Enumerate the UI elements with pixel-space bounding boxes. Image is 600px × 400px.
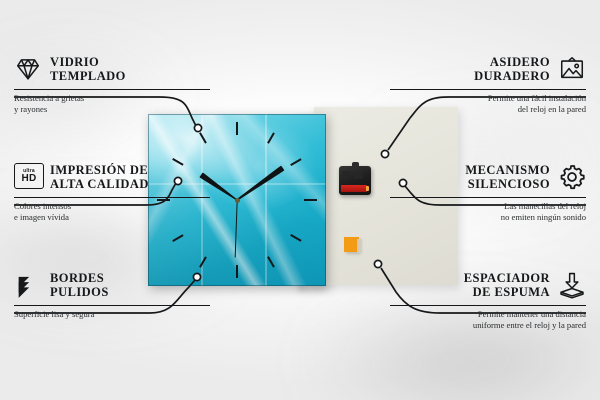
feature-mecanismo-silencioso: MECANISMO SILENCIOSO Las manecillas del … [390, 160, 586, 223]
feature-rule [390, 89, 586, 90]
feature-asidero-duradero: ASIDERO DURADERO Permite una fácil insta… [390, 52, 586, 115]
foam-spacer [344, 237, 359, 252]
feature-description: Permite una fácil instalación del reloj … [390, 93, 586, 115]
feature-rule [14, 197, 210, 198]
feature-description: Resistencia a grietas y rayones [14, 93, 210, 115]
movement-slot-right [354, 171, 363, 179]
feature-header: ESPACIADOR DE ESPUMA [390, 268, 586, 302]
feature-description: Superficie lisa y segura [14, 309, 210, 320]
hd-main-label: HD [21, 174, 36, 184]
feature-title: ESPACIADOR DE ESPUMA [464, 271, 550, 299]
foam-spacer-arrow-icon [558, 271, 586, 299]
movement-slot-left [342, 171, 351, 179]
feature-title: IMPRESIÓN DE ALTA CALIDAD [50, 163, 149, 191]
gear-icon [558, 163, 586, 191]
feature-description: Colores intensos e imagen vívida [14, 201, 210, 223]
feature-description: Permite mantener una distancia uniforme … [390, 309, 586, 331]
infographic-stage: VIDRIO TEMPLADO Resistencia a grietas y … [0, 0, 600, 400]
ultra-hd-icon: ultra HD [14, 163, 42, 191]
feature-header: ASIDERO DURADERO [390, 52, 586, 86]
clock-movement-mechanism [339, 166, 371, 195]
feature-vidrio-templado: VIDRIO TEMPLADO Resistencia a grietas y … [14, 52, 210, 115]
feature-espaciador-de-espuma: ESPACIADOR DE ESPUMA Permite mantener un… [390, 268, 586, 331]
picture-frame-hanger-icon [558, 55, 586, 83]
feature-title: MECANISMO SILENCIOSO [465, 163, 550, 191]
feature-description: Las manecillas del reloj no emiten ningú… [390, 201, 586, 223]
feature-title: BORDES PULIDOS [50, 271, 109, 299]
feature-header: ultra HD IMPRESIÓN DE ALTA CALIDAD [14, 160, 210, 194]
feature-rule [14, 89, 210, 90]
diamond-icon [14, 55, 42, 83]
feature-rule [390, 305, 586, 306]
feature-title: VIDRIO TEMPLADO [50, 55, 126, 83]
movement-shaft [352, 162, 359, 168]
battery [341, 185, 367, 192]
feature-bordes-pulidos: BORDES PULIDOS Superficie lisa y segura [14, 268, 210, 320]
feature-header: BORDES PULIDOS [14, 268, 210, 302]
feature-rule [14, 305, 210, 306]
feature-header: VIDRIO TEMPLADO [14, 52, 210, 86]
feature-rule [390, 197, 586, 198]
feature-header: MECANISMO SILENCIOSO [390, 160, 586, 194]
feature-title: ASIDERO DURADERO [474, 55, 550, 83]
polished-edges-icon [14, 271, 42, 299]
feature-impresion-alta-calidad: ultra HD IMPRESIÓN DE ALTA CALIDAD Color… [14, 160, 210, 223]
